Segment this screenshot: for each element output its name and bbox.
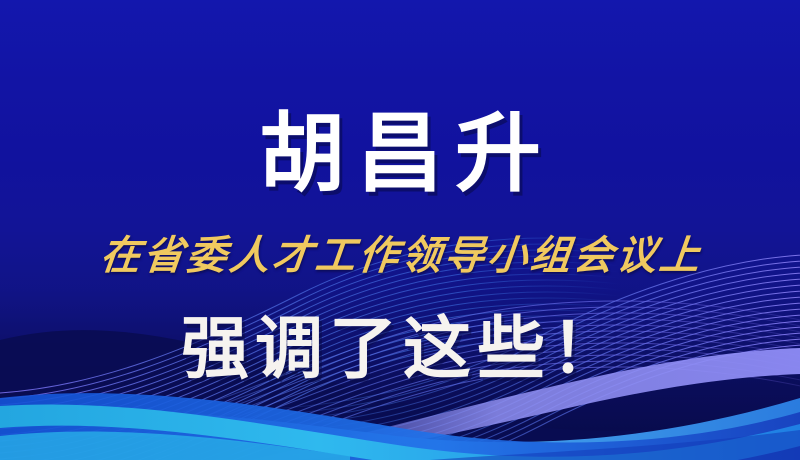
poster-title-bottom: 强调了这些！ [0, 310, 800, 388]
poster-text-block: 胡昌升 在省委人才工作领导小组会议上 强调了这些！ [0, 0, 800, 460]
poster-title-subtitle: 在省委人才工作领导小组会议上 [0, 228, 800, 284]
poster-title-main: 胡昌升 [0, 108, 800, 200]
poster-canvas: 胡昌升 在省委人才工作领导小组会议上 强调了这些！ [0, 0, 800, 460]
